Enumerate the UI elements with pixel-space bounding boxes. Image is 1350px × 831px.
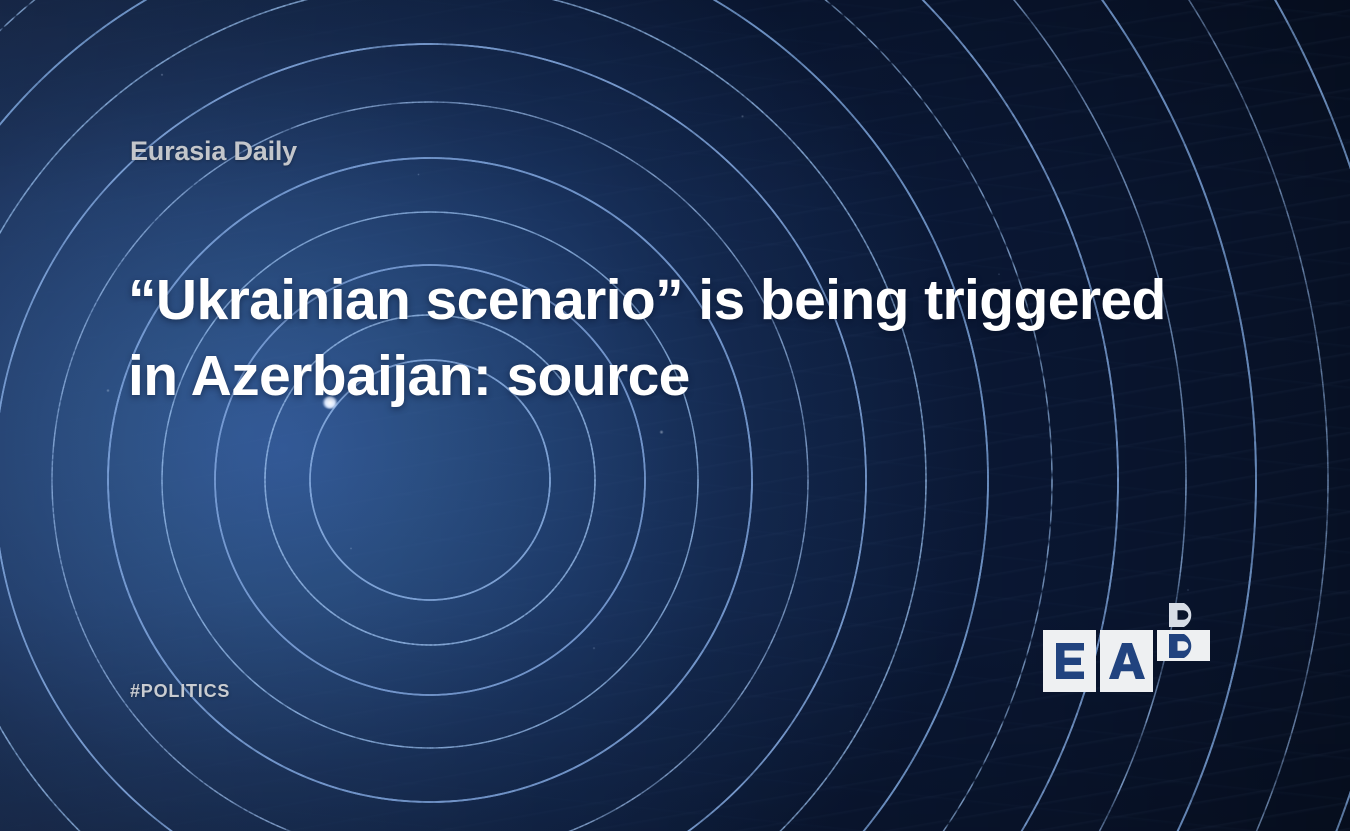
category-tag: #POLITICS xyxy=(130,681,230,702)
card-content: Eurasia Daily “Ukrainian scenario” is be… xyxy=(0,0,1350,831)
ead-logo[interactable] xyxy=(1043,630,1221,692)
social-share-card: Eurasia Daily “Ukrainian scenario” is be… xyxy=(0,0,1350,831)
logo-tile-d-upper xyxy=(1157,599,1210,630)
logo-tile-e xyxy=(1043,630,1096,692)
logo-tile-stack-dd xyxy=(1157,599,1210,661)
logo-tile-d-lower xyxy=(1157,630,1210,661)
logo-tile-a xyxy=(1100,630,1153,692)
headline-title: “Ukrainian scenario” is being triggered … xyxy=(128,262,1218,414)
brand-name: Eurasia Daily xyxy=(130,136,297,167)
